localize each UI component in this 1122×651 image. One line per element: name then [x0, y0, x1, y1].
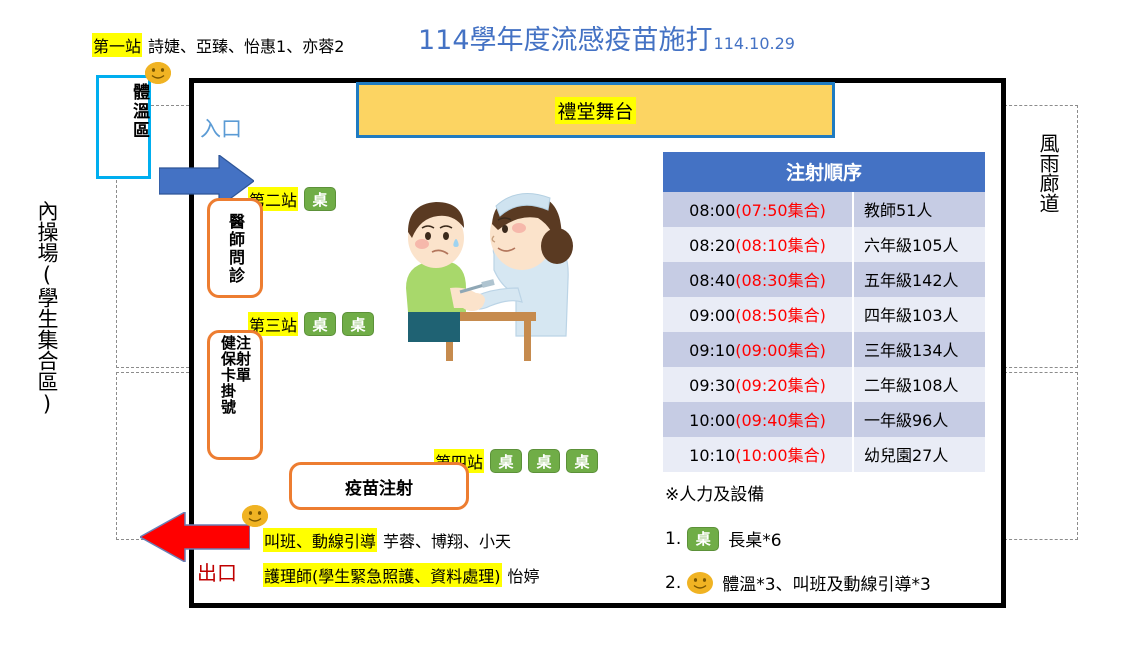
equipment-item-text: 長桌*6 — [728, 526, 781, 551]
table-row: 09:00(08:50集合) 四年級103人 — [663, 297, 985, 332]
station-3-label-right-column: 注射單 — [235, 335, 250, 455]
title-date-text: 114.10.29 — [714, 34, 795, 53]
equipment-item-number: 2. — [665, 573, 681, 593]
schedule-gather-time: (08:50集合) — [735, 306, 826, 325]
staff-note-nurse: 護理師(學生緊急照護、資料處理) 怡婷 — [263, 563, 540, 587]
station-3-label-left-column: 健保卡掛號 — [220, 335, 235, 455]
inner-playground-label: 內操場(學生集合區) — [36, 200, 57, 416]
station-3-header: 第三站 桌 桌 — [248, 312, 374, 336]
schedule-group-cell: 四年級103人 — [853, 297, 985, 332]
table-row: 10:10(10:00集合) 幼兒園27人 — [663, 437, 985, 472]
schedule-time: 08:20 — [689, 236, 735, 255]
desk-chip: 桌 — [566, 449, 598, 473]
desk-chip: 桌 — [304, 312, 336, 336]
schedule-time: 08:40 — [689, 271, 735, 290]
schedule-gather-time: (07:50集合) — [735, 201, 826, 220]
schedule-time: 10:10 — [689, 446, 735, 465]
schedule-time-cell: 08:00(07:50集合) — [663, 192, 853, 227]
schedule-gather-time: (08:30集合) — [735, 271, 826, 290]
station-1-names: 詩婕、亞臻、怡惠1、亦蓉2 — [148, 33, 344, 57]
schedule-gather-time: (08:10集合) — [735, 236, 826, 255]
schedule-group-cell: 一年級96人 — [853, 402, 985, 437]
schedule-time: 08:00 — [689, 201, 735, 220]
schedule-time-cell: 09:10(09:00集合) — [663, 332, 853, 367]
schedule-gather-time: (10:00集合) — [735, 446, 826, 465]
table-row: 10:00(09:40集合) 一年級96人 — [663, 402, 985, 437]
smiley-icon-guidance — [242, 505, 268, 527]
schedule-group-cell: 三年級134人 — [853, 332, 985, 367]
schedule-time-cell: 10:00(09:40集合) — [663, 402, 853, 437]
table-row: 09:30(09:20集合) 二年級108人 — [663, 367, 985, 402]
stage-label: 禮堂舞台 — [555, 97, 635, 124]
station-4-box: 疫苗注射 — [289, 462, 469, 510]
smiley-icon-equipment — [687, 572, 713, 594]
schedule-time-cell: 08:40(08:30集合) — [663, 262, 853, 297]
staff-note-names: 怡婷 — [508, 563, 540, 587]
station-1-tag: 第一站 — [92, 33, 142, 57]
schedule-time-cell: 10:10(10:00集合) — [663, 437, 853, 472]
arrow-left-glyph — [140, 512, 250, 562]
schedule-time: 10:00 — [689, 411, 735, 430]
table-row: 08:20(08:10集合) 六年級105人 — [663, 227, 985, 262]
title-main-text: 114學年度流感疫苗施打 — [418, 18, 713, 57]
stage-area: 禮堂舞台 — [356, 82, 835, 138]
schedule-time-cell: 09:00(08:50集合) — [663, 297, 853, 332]
nurse-vaccinating-child-glyph — [398, 184, 598, 364]
vaccination-illustration — [398, 184, 598, 364]
temperature-zone-label: 體溫區 — [100, 83, 147, 140]
schedule-group-cell: 二年級108人 — [853, 367, 985, 402]
desk-chip: 桌 — [304, 187, 336, 211]
schedule-time: 09:00 — [689, 306, 735, 325]
covered-corridor-label: 風雨廊道 — [1038, 133, 1058, 213]
desk-chip: 桌 — [490, 449, 522, 473]
schedule-gather-time: (09:00集合) — [735, 341, 826, 360]
schedule-time: 09:30 — [689, 376, 735, 395]
desk-chip: 桌 — [687, 527, 719, 551]
equipment-item-staff: 2. 體溫*3、叫班及動線引導*3 — [665, 570, 931, 595]
station-2-label: 醫師問診 — [212, 203, 258, 295]
table-row: 08:00(07:50集合) 教師51人 — [663, 192, 985, 227]
staff-note-role: 叫班、動線引導 — [263, 528, 377, 552]
station-4-label: 疫苗注射 — [345, 474, 413, 499]
schedule-group-cell: 幼兒園27人 — [853, 437, 985, 472]
desk-chip: 桌 — [342, 312, 374, 336]
equipment-item-desk: 1. 桌 長桌*6 — [665, 526, 782, 551]
schedule-group-cell: 教師51人 — [853, 192, 985, 227]
schedule-gather-time: (09:20集合) — [735, 376, 826, 395]
schedule-header: 注射順序 — [663, 152, 985, 192]
exit-arrow-icon — [140, 512, 250, 566]
smiley-face-glyph — [687, 572, 713, 594]
equipment-section-title: ※人力及設備 — [665, 480, 764, 505]
injection-schedule-table: 注射順序 08:00(07:50集合) 教師51人 08:20(08:10集合)… — [663, 152, 985, 472]
schedule-group-cell: 五年級142人 — [853, 262, 985, 297]
schedule-group-cell: 六年級105人 — [853, 227, 985, 262]
staff-note-role: 護理師(學生緊急照護、資料處理) — [263, 563, 502, 587]
table-row: 09:10(09:00集合) 三年級134人 — [663, 332, 985, 367]
zone-outline-right-lower — [1004, 372, 1078, 540]
schedule-time: 09:10 — [689, 341, 735, 360]
entrance-label: 入口 — [200, 113, 242, 143]
schedule-gather-time: (09:40集合) — [735, 411, 826, 430]
station-1-staff-line: 第一站 詩婕、亞臻、怡惠1、亦蓉2 — [92, 33, 344, 57]
station-3-label-group: 注射單 健保卡掛號 — [210, 335, 260, 455]
page-title: 114學年度流感疫苗施打 114.10.29 — [418, 18, 795, 57]
smiley-face-glyph — [242, 505, 268, 527]
staff-note-guidance: 叫班、動線引導 芋蓉、博翔、小天 — [263, 528, 511, 552]
schedule-time-cell: 08:20(08:10集合) — [663, 227, 853, 262]
smiley-icon-temperature — [145, 62, 171, 84]
desk-chip: 桌 — [528, 449, 560, 473]
equipment-item-number: 1. — [665, 529, 681, 549]
schedule-body: 08:00(07:50集合) 教師51人 08:20(08:10集合) 六年級1… — [663, 192, 985, 472]
smiley-face-glyph — [145, 62, 171, 84]
staff-note-names: 芋蓉、博翔、小天 — [383, 528, 511, 552]
equipment-item-text: 體溫*3、叫班及動線引導*3 — [722, 570, 931, 595]
table-row: 08:40(08:30集合) 五年級142人 — [663, 262, 985, 297]
schedule-time-cell: 09:30(09:20集合) — [663, 367, 853, 402]
